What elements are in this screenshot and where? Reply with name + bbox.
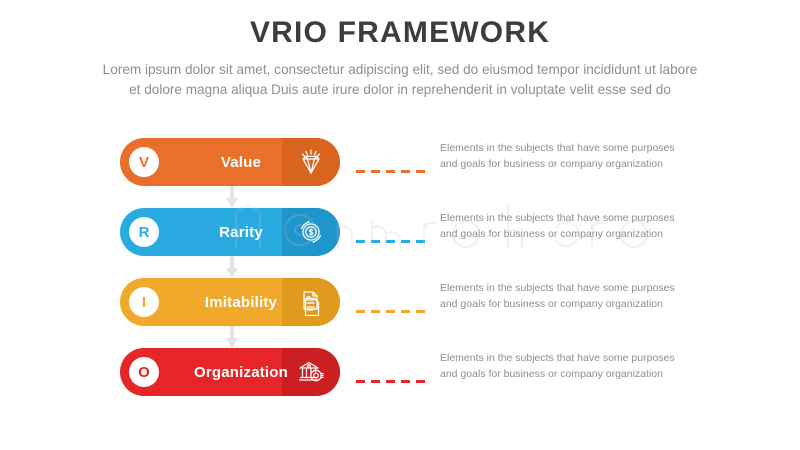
organization-description: Elements in the subjects that have some …	[440, 351, 690, 382]
letter-badge-i: I	[129, 287, 159, 317]
badge-letter: O	[138, 364, 150, 381]
desc-line-2: and goals for business or company organi…	[440, 297, 690, 313]
vrio-row-value[interactable]: V Value Elements in the subjects that ha…	[0, 138, 800, 186]
rarity-label: Rarity	[166, 208, 316, 256]
dashed-connector-value	[356, 160, 428, 163]
imitability-description: Elements in the subjects that have some …	[440, 281, 690, 312]
dashed-connector-organization	[356, 370, 428, 373]
dashed-connector-imitability	[356, 300, 428, 303]
desc-line-1: Elements in the subjects that have some …	[440, 351, 690, 367]
down-arrow-icon	[224, 326, 240, 348]
rarity-bar[interactable]: R Rarity	[120, 208, 340, 256]
badge-letter: V	[139, 154, 149, 171]
desc-line-1: Elements in the subjects that have some …	[440, 141, 690, 157]
organization-label: Organization	[166, 348, 316, 396]
letter-badge-r: R	[129, 217, 159, 247]
down-arrow-icon	[224, 256, 240, 278]
letter-badge-v: V	[129, 147, 159, 177]
vrio-diagram: V Value Elements in the subjects that ha…	[0, 126, 800, 426]
page-header: VRIO FRAMEWORK Lorem ipsum dolor sit ame…	[0, 0, 800, 100]
desc-line-1: Elements in the subjects that have some …	[440, 211, 690, 227]
organization-bar[interactable]: O Organization	[120, 348, 340, 396]
vrio-row-imitability[interactable]: I Imitability Elements in the subjects t…	[0, 278, 800, 326]
badge-letter: R	[139, 224, 150, 241]
desc-line-2: and goals for business or company organi…	[440, 157, 690, 173]
down-arrow-icon	[224, 186, 240, 208]
page-title: VRIO FRAMEWORK	[0, 14, 800, 52]
desc-line-2: and goals for business or company organi…	[440, 227, 690, 243]
page-subtitle: Lorem ipsum dolor sit amet, consectetur …	[30, 60, 770, 100]
desc-line-1: Elements in the subjects that have some …	[440, 281, 690, 297]
value-bar[interactable]: V Value	[120, 138, 340, 186]
value-description: Elements in the subjects that have some …	[440, 141, 690, 172]
subtitle-line-2: et dolore magna aliqua Duis aute irure d…	[30, 80, 770, 100]
imitability-bar[interactable]: I Imitability	[120, 278, 340, 326]
letter-badge-o: O	[129, 357, 159, 387]
imitability-label: Imitability	[166, 278, 316, 326]
rarity-description: Elements in the subjects that have some …	[440, 211, 690, 242]
desc-line-2: and goals for business or company organi…	[440, 367, 690, 383]
value-label: Value	[166, 138, 316, 186]
dashed-connector-rarity	[356, 230, 428, 233]
vrio-row-rarity[interactable]: R Rarity Elements in the subjects that h…	[0, 208, 800, 256]
vrio-row-organization[interactable]: O Organization Elements in the subjects …	[0, 348, 800, 396]
subtitle-line-1: Lorem ipsum dolor sit amet, consectetur …	[30, 60, 770, 80]
badge-letter: I	[142, 294, 146, 311]
